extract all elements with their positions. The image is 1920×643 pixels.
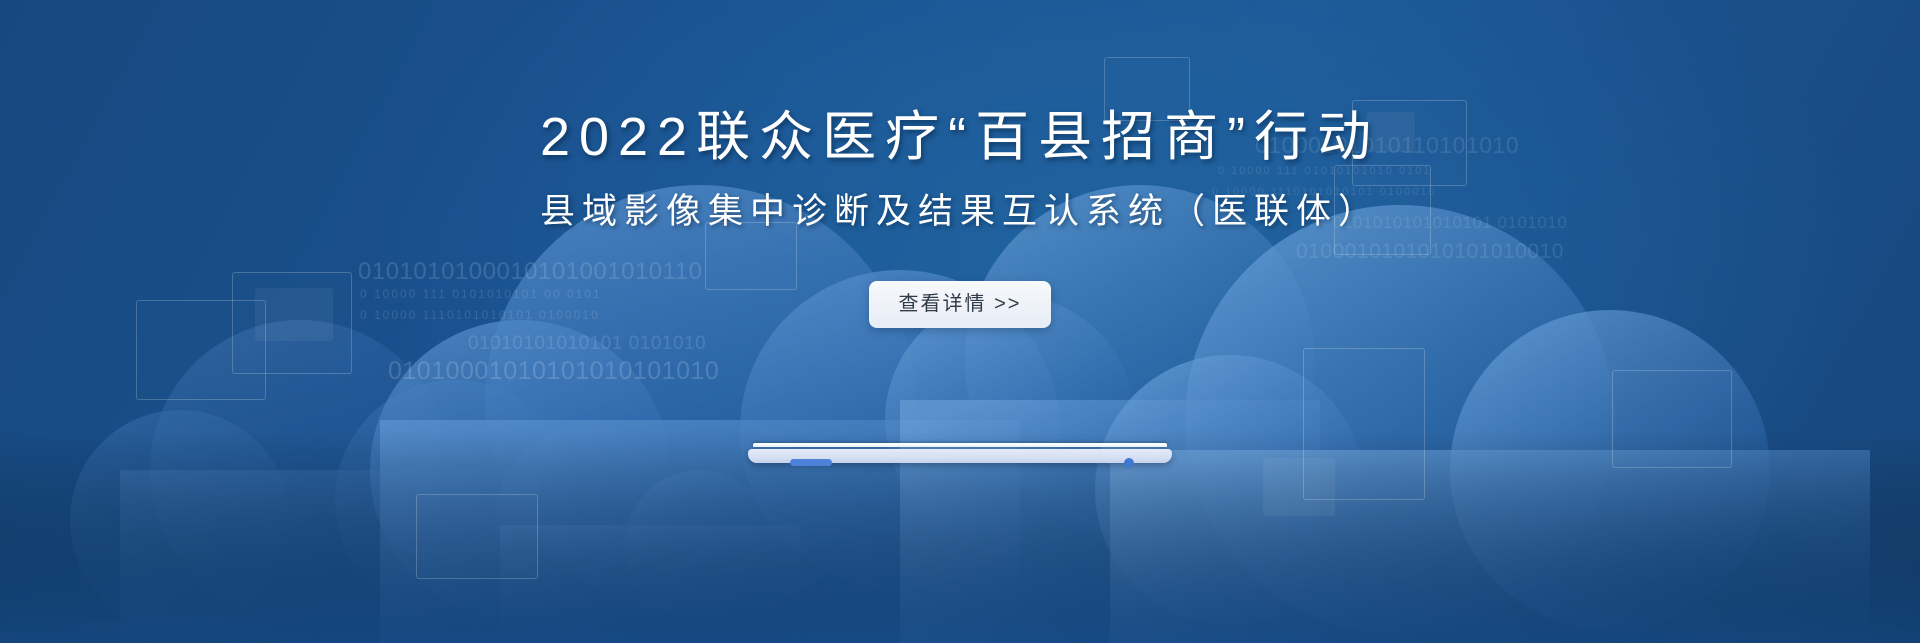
promo-banner: 0101010100010101001010110 0 10000 111 01… — [0, 0, 1920, 643]
view-details-button[interactable]: 查看详情 >> — [869, 281, 1052, 328]
banner-title: 2022联众医疗“百县招商”行动 — [540, 110, 1380, 164]
banner-content: 2022联众医疗“百县招商”行动 县域影像集中诊断及结果互认系统（医联体） 查看… — [0, 0, 1920, 643]
banner-subtitle: 县域影像集中诊断及结果互认系统（医联体） — [540, 194, 1380, 229]
